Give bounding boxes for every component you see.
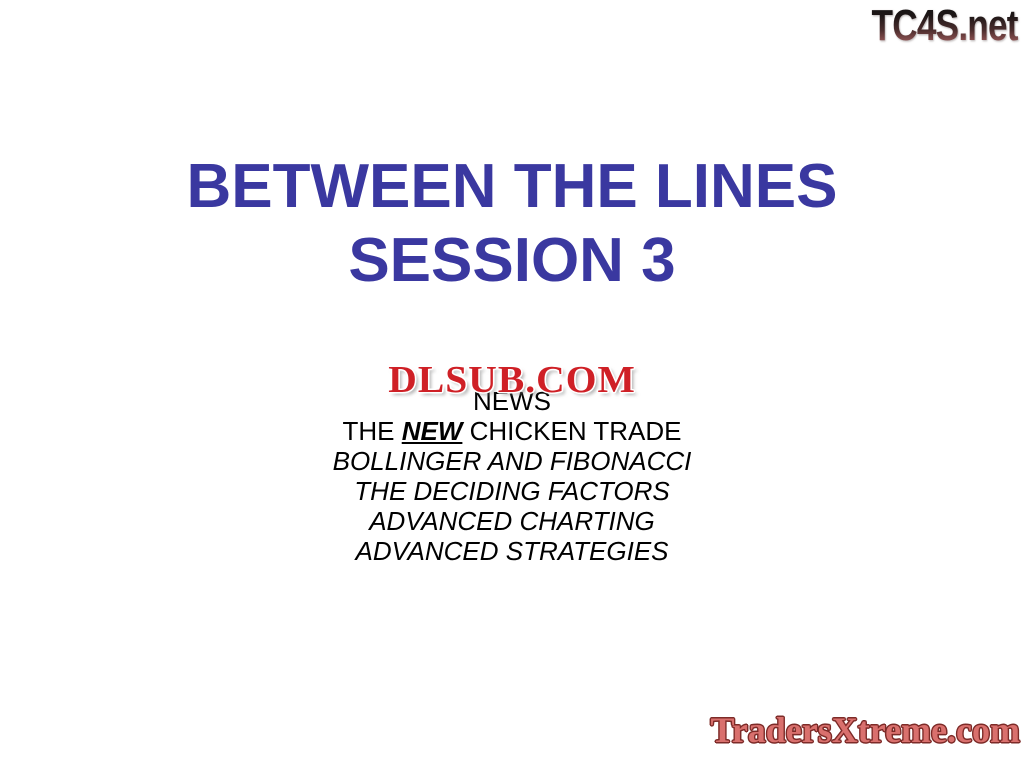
agenda-item-chicken-trade-suffix: CHICKEN TRADE	[462, 416, 681, 446]
agenda-item-chicken-trade-emphasis: NEW	[402, 416, 463, 446]
agenda-item-chicken-trade: THE NEW CHICKEN TRADE	[0, 416, 1024, 446]
agenda-item-bollinger-fibonacci: BOLLINGER AND FIBONACCI	[0, 446, 1024, 476]
watermark-tradersxtreme: TradersXtreme.com	[710, 710, 1020, 750]
presentation-slide: TC4S.net BETWEEN THE LINES SESSION 3 NEW…	[0, 0, 1024, 768]
page-title-line-2: SESSION 3	[0, 224, 1024, 298]
agenda-item-advanced-strategies: ADVANCED STRATEGIES	[0, 536, 1024, 566]
agenda-item-advanced-charting: ADVANCED CHARTING	[0, 506, 1024, 536]
page-title-line-1: BETWEEN THE LINES	[0, 150, 1024, 224]
agenda-item-chicken-trade-prefix: THE	[342, 416, 401, 446]
agenda-item-news: NEWS	[0, 386, 1024, 416]
agenda-list: NEWS THE NEW CHICKEN TRADE BOLLINGER AND…	[0, 386, 1024, 566]
page-title: BETWEEN THE LINES SESSION 3	[0, 150, 1024, 298]
watermark-tc4s: TC4S.net	[872, 2, 1018, 50]
agenda-item-deciding-factors: THE DECIDING FACTORS	[0, 476, 1024, 506]
